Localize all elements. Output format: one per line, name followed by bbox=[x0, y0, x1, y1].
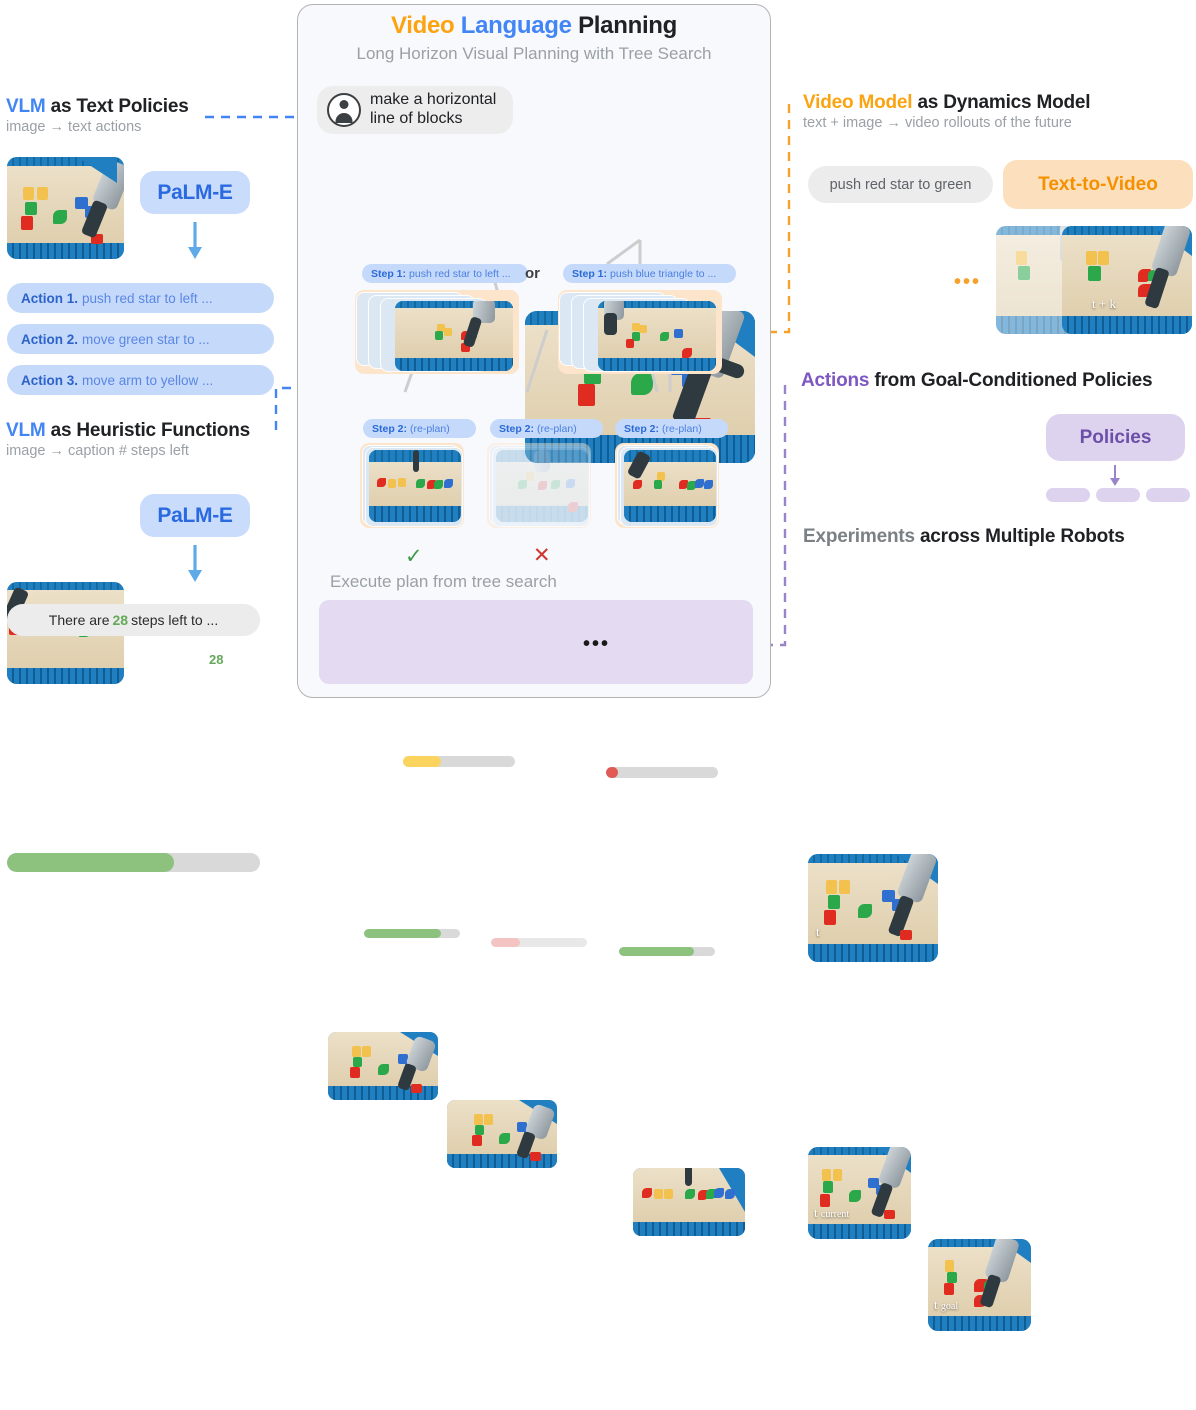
action-3-prefix: Action 3. bbox=[21, 373, 78, 388]
video-rollout-ellipsis: ••• bbox=[954, 272, 981, 292]
action-2-prefix: Action 2. bbox=[21, 332, 78, 347]
experiments-title-prefix: Experiments bbox=[803, 526, 915, 547]
vlm-text-policies-title: VLM as Text Policies bbox=[6, 96, 189, 118]
vlm-text-policies-title-prefix: VLM bbox=[6, 96, 46, 117]
step2-pill-c[interactable]: Step 2:(re-plan) bbox=[615, 419, 728, 438]
action-2-text: move green star to ... bbox=[82, 332, 210, 347]
palme-model-badge-heuristic[interactable]: PaLM-E bbox=[140, 494, 250, 537]
branch-right-score-bar bbox=[606, 767, 718, 778]
execute-ellipsis: ••• bbox=[583, 634, 610, 654]
actions-title-prefix: Actions bbox=[801, 370, 869, 391]
step1-right-pill[interactable]: Step 1:push blue triangle to ... bbox=[563, 264, 736, 283]
actions-policies-heading: Actions from Goal-Conditioned Policies bbox=[801, 370, 1152, 392]
video-frame-end-label: t + k bbox=[1092, 296, 1116, 312]
step1-right-text: push blue triangle to ... bbox=[610, 268, 716, 280]
robot-scene-image-policies bbox=[7, 157, 124, 259]
goal-frame-current: t current bbox=[808, 1147, 911, 1239]
action-3-text: move arm to yellow ... bbox=[82, 373, 213, 388]
video-frame-start-label: t bbox=[816, 924, 820, 940]
step2-b-prefix: Step 2: bbox=[499, 423, 534, 435]
goal-frame-target-label: t goal bbox=[934, 1297, 958, 1313]
step2-b-score-bar bbox=[491, 938, 587, 947]
step2-c-text: (re-plan) bbox=[662, 423, 702, 435]
step2-node-c bbox=[615, 443, 719, 528]
video-model-title-prefix: Video Model bbox=[803, 92, 912, 113]
policy-action-chip-2 bbox=[1096, 488, 1140, 502]
step2-pill-b[interactable]: Step 2:(re-plan) bbox=[490, 419, 603, 438]
execute-frame-2 bbox=[447, 1100, 557, 1168]
action-item-3[interactable]: Action 3.move arm to yellow ... bbox=[7, 365, 274, 395]
step2-a-text: (re-plan) bbox=[410, 423, 450, 435]
step2-a-score-bar bbox=[364, 929, 460, 938]
step2-node-a bbox=[360, 443, 464, 528]
caption-steps-number: 28 bbox=[112, 612, 128, 628]
step1-right-prefix: Step 1: bbox=[572, 268, 607, 280]
action-item-2[interactable]: Action 2.move green star to ... bbox=[7, 324, 274, 354]
policy-action-chip-1 bbox=[1046, 488, 1090, 502]
branch-right-stack bbox=[560, 293, 718, 371]
heuristic-bar-value: 28 bbox=[209, 652, 223, 667]
heuristic-caption-pill: There are 28 steps left to ... bbox=[7, 604, 260, 636]
caption-pre: There are bbox=[49, 612, 110, 628]
vlm-heuristic-title: VLM as Heuristic Functions bbox=[6, 420, 250, 442]
policy-action-chip-3 bbox=[1146, 488, 1190, 502]
actions-policies-title: Actions from Goal-Conditioned Policies bbox=[801, 370, 1152, 392]
execute-frame-final bbox=[633, 1168, 745, 1236]
action-item-1[interactable]: Action 1.push red star to left ... bbox=[7, 283, 274, 313]
step2-b-text: (re-plan) bbox=[537, 423, 577, 435]
video-frame-end-stack: t + k bbox=[996, 226, 1196, 334]
step2-c-prefix: Step 2: bbox=[624, 423, 659, 435]
step1-left-pill[interactable]: Step 1:push red star to left ... bbox=[362, 264, 528, 283]
down-arrow-icon-policies bbox=[1108, 465, 1122, 487]
vlm-heuristic-title-prefix: VLM bbox=[6, 420, 46, 441]
caption-post: steps left to ... bbox=[131, 612, 218, 628]
vlm-text-policies-heading: VLM as Text Policies image → text action… bbox=[6, 96, 189, 135]
vlm-heuristic-title-rest: as Heuristic Functions bbox=[46, 420, 250, 441]
execute-plan-label: Execute plan from tree search bbox=[330, 572, 557, 592]
vlm-text-policies-title-rest: as Text Policies bbox=[46, 96, 189, 117]
step2-node-b bbox=[487, 443, 591, 528]
heuristic-progress-bar bbox=[7, 853, 260, 872]
vlm-heuristic-subtitle: image → caption # steps left bbox=[6, 443, 250, 459]
branch-left-score-bar bbox=[403, 756, 515, 767]
verdict-accept-icon: ✓ bbox=[405, 546, 423, 567]
palme-model-badge-policies[interactable]: PaLM-E bbox=[140, 171, 250, 214]
verdict-reject-icon: ✕ bbox=[533, 545, 551, 566]
video-model-subtitle: text + image → video rollouts of the fut… bbox=[803, 115, 1090, 131]
video-model-heading: Video Model as Dynamics Model text + ima… bbox=[803, 92, 1090, 131]
policies-badge[interactable]: Policies bbox=[1046, 414, 1185, 461]
text-prompt-pill: push red star to green bbox=[808, 166, 993, 203]
experiments-heading: Experiments across Multiple Robots bbox=[803, 526, 1125, 548]
video-model-title-rest: as Dynamics Model bbox=[912, 92, 1090, 113]
down-arrow-icon-heuristic bbox=[185, 545, 205, 583]
experiments-title-rest: across Multiple Robots bbox=[915, 526, 1125, 547]
branch-separator: or bbox=[525, 265, 540, 282]
video-frame-start: t bbox=[808, 854, 938, 962]
action-1-text: push red star to left ... bbox=[82, 291, 213, 306]
step2-a-prefix: Step 2: bbox=[372, 423, 407, 435]
experiments-title: Experiments across Multiple Robots bbox=[803, 526, 1125, 548]
step1-left-prefix: Step 1: bbox=[371, 268, 406, 280]
text-to-video-badge[interactable]: Text-to-Video bbox=[1003, 160, 1193, 209]
goal-frame-target: t goal bbox=[928, 1239, 1031, 1331]
action-1-prefix: Action 1. bbox=[21, 291, 78, 306]
branch-left-stack bbox=[357, 293, 515, 371]
goal-frame-current-label: t current bbox=[814, 1205, 849, 1221]
step2-pill-a[interactable]: Step 2:(re-plan) bbox=[363, 419, 476, 438]
down-arrow-icon-policies bbox=[185, 222, 205, 260]
vlm-text-policies-subtitle: image → text actions bbox=[6, 119, 189, 135]
vlm-heuristic-heading: VLM as Heuristic Functions image → capti… bbox=[6, 420, 250, 459]
execute-plan-strip bbox=[319, 600, 753, 684]
step2-c-score-bar bbox=[619, 947, 715, 956]
step1-left-text: push red star to left ... bbox=[409, 268, 511, 280]
video-model-title: Video Model as Dynamics Model bbox=[803, 92, 1090, 114]
execute-frame-1 bbox=[328, 1032, 438, 1100]
actions-title-rest: from Goal-Conditioned Policies bbox=[869, 370, 1152, 391]
